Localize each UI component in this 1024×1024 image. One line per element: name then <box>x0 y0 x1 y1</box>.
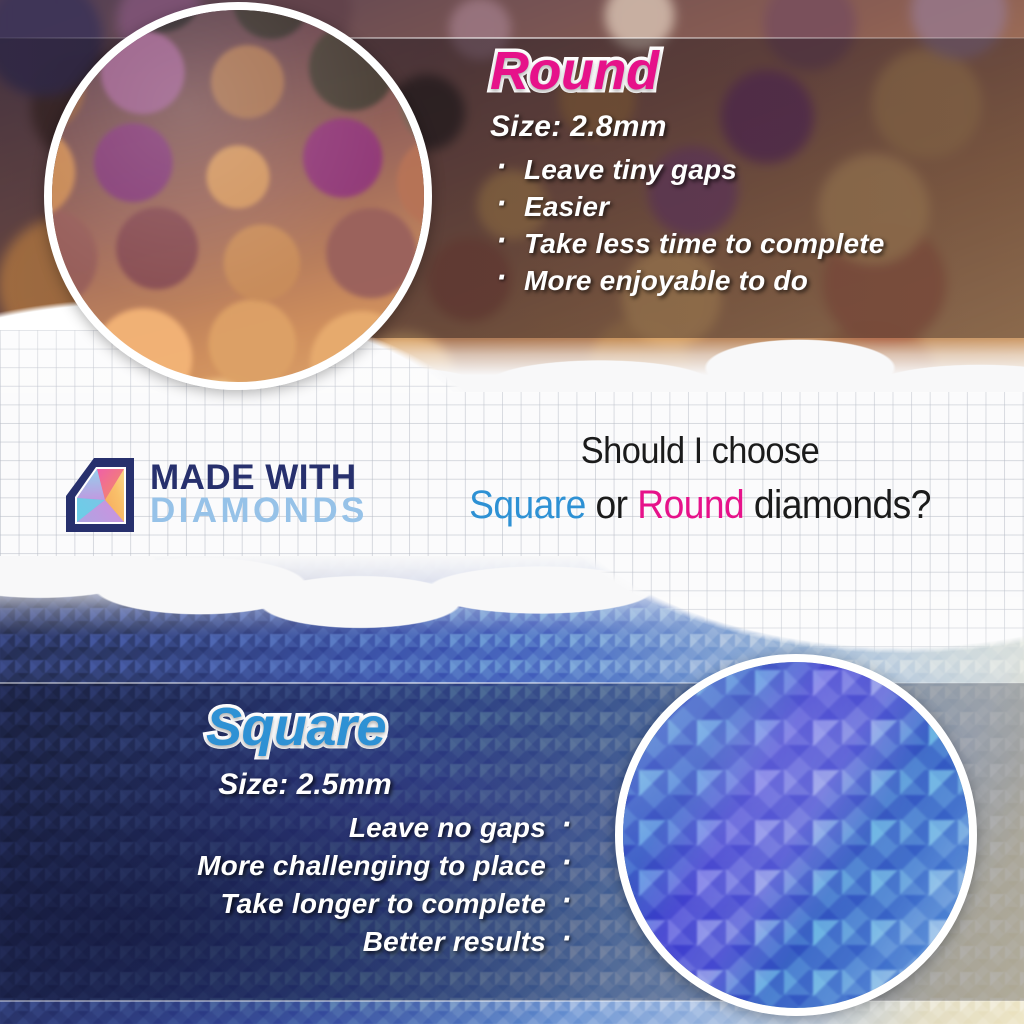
list-item: More challenging to place <box>60 850 580 882</box>
round-text-block: Round Size: 2.8mm Leave tiny gaps Easier… <box>490 44 1010 302</box>
brand-line-diamonds: DIAMONDS <box>150 495 368 528</box>
list-item: Better results <box>60 926 580 958</box>
question-line-2: Square or Round diamonds? <box>449 483 951 528</box>
centre-band: MADE WITH DIAMONDS Should I choose Squar… <box>0 330 1024 660</box>
square-text-block: Square Size: 2.5mm Leave no gaps More ch… <box>60 700 580 964</box>
question-line-1: Should I choose <box>449 430 951 472</box>
list-item: Take longer to complete <box>60 888 580 920</box>
round-benefits-list: Leave tiny gaps Easier Take less time to… <box>490 154 1010 297</box>
square-closeup-gloss <box>623 662 969 1008</box>
round-closeup-gloss <box>52 10 424 382</box>
brand-logo: MADE WITH DIAMONDS <box>64 456 368 534</box>
list-item: Easier <box>490 191 1010 223</box>
brand-wordmark: MADE WITH DIAMONDS <box>150 462 368 528</box>
question-connector: or <box>586 483 638 527</box>
list-item: More enjoyable to do <box>490 265 1010 297</box>
keyword-square: Square <box>469 483 586 527</box>
square-benefits-list: Leave no gaps More challenging to place … <box>60 812 580 958</box>
list-item: Leave tiny gaps <box>490 154 1010 186</box>
infographic-canvas: Round Size: 2.8mm Leave tiny gaps Easier… <box>0 0 1024 1024</box>
square-heading: Square <box>60 700 580 754</box>
list-item: Leave no gaps <box>60 812 580 844</box>
question-tail: diamonds? <box>744 483 931 527</box>
round-size-label: Size: 2.8mm <box>490 110 1010 144</box>
keyword-round: Round <box>637 483 744 527</box>
diamond-gem-logo-icon <box>64 456 136 534</box>
square-size-label: Size: 2.5mm <box>60 768 580 802</box>
square-closeup-circle <box>615 654 977 1016</box>
list-item: Take less time to complete <box>490 228 1010 260</box>
question-block: Should I choose Square or Round diamonds… <box>430 430 970 528</box>
round-heading: Round <box>490 44 1010 98</box>
